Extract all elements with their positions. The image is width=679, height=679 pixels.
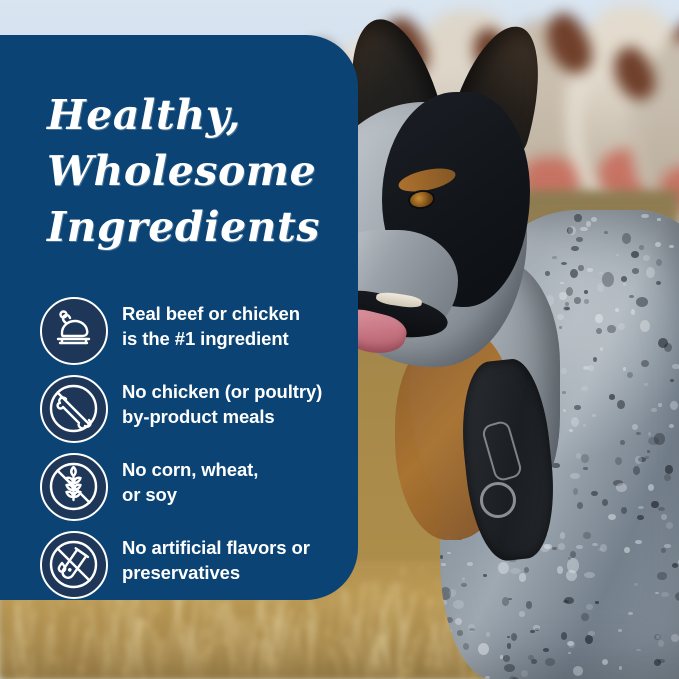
headline-line-1: Healthy, bbox=[47, 87, 347, 143]
feature-list: Real beef or chicken is the #1 ingredien… bbox=[40, 293, 355, 605]
blue-content-panel: Healthy, Wholesome Ingredients bbox=[0, 35, 358, 600]
list-item: No corn, wheat, or soy bbox=[40, 449, 355, 527]
no-bone-byproduct-icon bbox=[40, 375, 108, 443]
feature-1-line-1: Real beef or chicken bbox=[122, 301, 354, 326]
no-wheat-grain-icon bbox=[40, 453, 108, 521]
list-item: No chicken (or poultry) by-product meals bbox=[40, 371, 355, 449]
no-test-tube-icon bbox=[40, 531, 108, 599]
collar-ring bbox=[480, 482, 516, 518]
list-item-text: Real beef or chicken is the #1 ingredien… bbox=[122, 301, 354, 351]
headline-line-2: Wholesome bbox=[47, 143, 347, 199]
list-item-text: No corn, wheat, or soy bbox=[122, 457, 354, 507]
page-title: Healthy, Wholesome Ingredients bbox=[47, 87, 347, 255]
product-feature-banner: Healthy, Wholesome Ingredients bbox=[0, 0, 679, 679]
list-item-text: No chicken (or poultry) by-product meals bbox=[122, 379, 354, 429]
feature-4-line-2: preservatives bbox=[122, 560, 354, 585]
list-item: No artificial flavors or preservatives bbox=[40, 527, 355, 605]
feature-2-line-1: No chicken (or poultry) bbox=[122, 379, 354, 404]
feature-3-line-1: No corn, wheat, bbox=[122, 457, 354, 482]
feature-3-line-2: or soy bbox=[122, 482, 354, 507]
roast-chicken-icon bbox=[40, 297, 108, 365]
list-item-text: No artificial flavors or preservatives bbox=[122, 535, 354, 585]
list-item: Real beef or chicken is the #1 ingredien… bbox=[40, 293, 355, 371]
feature-4-line-1: No artificial flavors or bbox=[122, 535, 354, 560]
headline-line-3: Ingredients bbox=[47, 199, 347, 255]
feature-1-line-2: is the #1 ingredient bbox=[122, 326, 354, 351]
feature-2-line-2: by-product meals bbox=[122, 404, 354, 429]
